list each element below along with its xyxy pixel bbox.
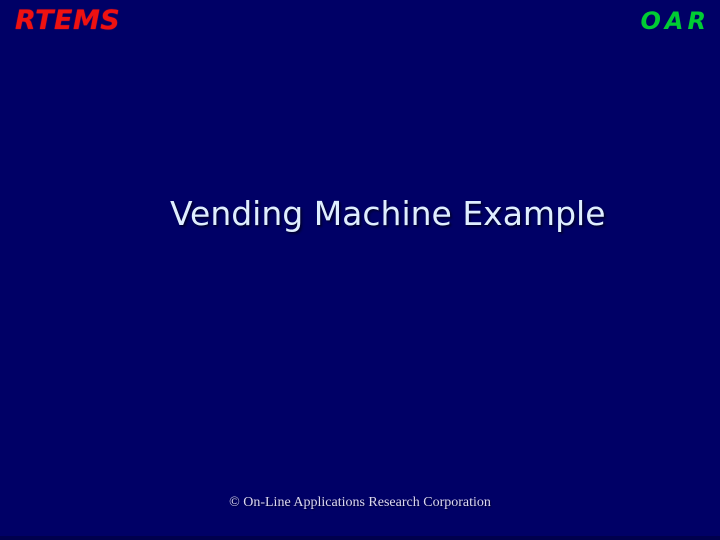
oar-logo: OAR	[641, 7, 710, 35]
presentation-slide: RTEMS OAR Vending Machine Example © On-L…	[0, 0, 720, 540]
slide-bottom-edge	[0, 536, 720, 540]
rtems-logo: RTEMS	[15, 6, 120, 36]
footer-copyright: © On-Line Applications Research Corporat…	[0, 494, 720, 512]
slide-background	[0, 0, 720, 536]
slide-title: Vending Machine Example	[170, 194, 590, 234]
